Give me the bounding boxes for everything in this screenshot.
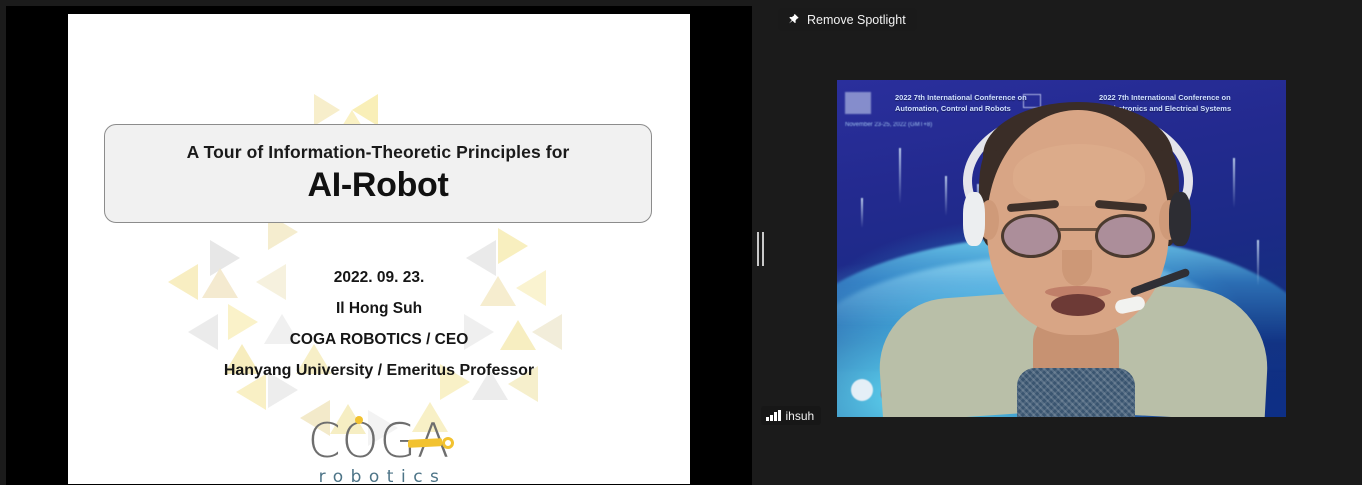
participant-name-label: ihsuh (786, 409, 815, 423)
participant-name-chip: ihsuh (761, 406, 821, 425)
slide-affiliation: Hanyang University / Emeritus Professor (68, 362, 690, 380)
slide-presenter: Il Hong Suh (68, 300, 690, 318)
robot-arm-icon (408, 437, 454, 448)
slide-title-box: A Tour of Information-Theoretic Principl… (104, 124, 652, 223)
coga-robotics-logo: COGA robotics (68, 418, 690, 484)
slide-date: 2022. 09. 23. (68, 269, 690, 287)
panel-drag-handle[interactable] (755, 232, 765, 266)
participant-person (837, 80, 1286, 417)
logo-subtext: robotics (312, 467, 447, 484)
participant-video-tile[interactable]: 2022 7th International Conference onAuto… (837, 80, 1286, 417)
audio-signal-bars-icon (766, 410, 781, 421)
slide-organization: COGA ROBOTICS / CEO (68, 331, 690, 349)
shared-screen-region[interactable]: A Tour of Information-Theoretic Principl… (6, 6, 752, 485)
slide-title-line2: AI-Robot (307, 166, 448, 205)
slide-meta-block: 2022. 09. 23. Il Hong Suh COGA ROBOTICS … (68, 269, 690, 393)
remove-spotlight-label: Remove Spotlight (807, 13, 906, 27)
slide-title-line1: A Tour of Information-Theoretic Principl… (187, 142, 570, 163)
presentation-slide: A Tour of Information-Theoretic Principl… (68, 14, 690, 484)
pin-icon (787, 13, 800, 26)
zoom-meeting-window: A Tour of Information-Theoretic Principl… (0, 0, 1362, 485)
logo-dot-icon (355, 416, 363, 424)
remove-spotlight-button[interactable]: Remove Spotlight (778, 8, 917, 31)
video-panel: 2022 7th International Conference onAuto… (752, 0, 1362, 485)
